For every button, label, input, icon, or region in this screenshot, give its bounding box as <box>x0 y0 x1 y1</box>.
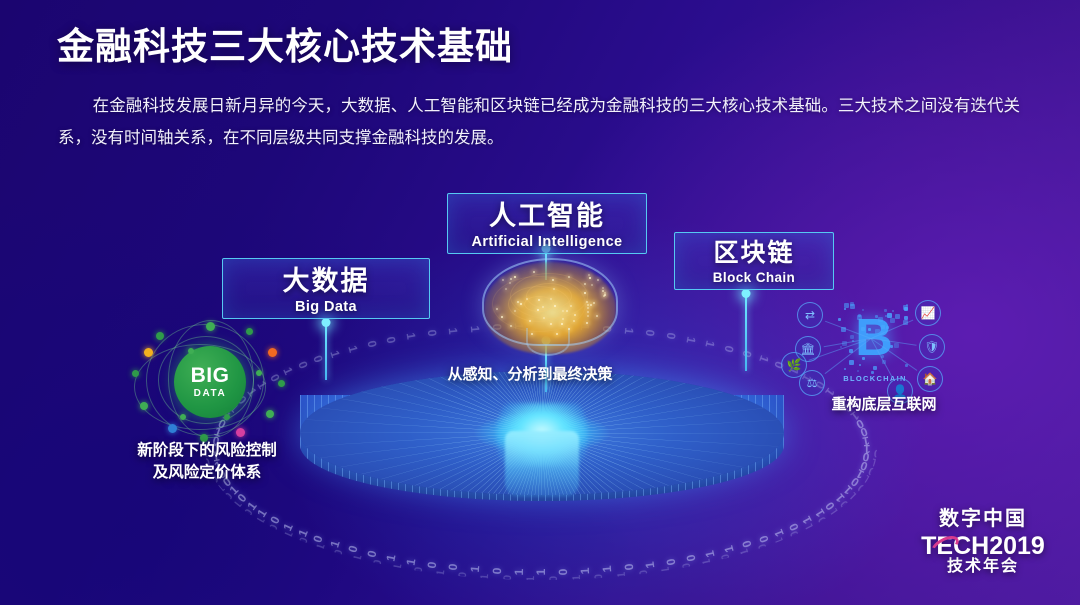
binary-digit: 0 <box>638 569 651 577</box>
label-box-big-data[interactable]: 大数据 Big Data <box>222 258 430 319</box>
big-data-node-icon <box>224 414 230 420</box>
brain-spark <box>562 318 564 320</box>
brain-spark <box>593 302 595 304</box>
binary-digit: 1 <box>328 348 343 359</box>
brain-spark <box>537 309 539 311</box>
brain-spark <box>587 307 589 309</box>
blockchain-pixel <box>894 343 899 348</box>
binary-digit: 0 <box>424 329 439 337</box>
label-big-data-en: Big Data <box>223 299 429 315</box>
logo-year-text: 2019 <box>989 532 1045 560</box>
brain-spark <box>590 304 592 306</box>
block-chain-icon-cluster: B BLOCKCHAIN ⇄🏛⚖🌿📈🛡🏠👤 <box>795 300 947 404</box>
connector-stem-big-data <box>325 322 327 380</box>
binary-digit: 0 <box>548 576 560 580</box>
blockchain-pixel <box>904 307 908 311</box>
binary-digit: 1 <box>571 575 583 580</box>
blockchain-pixel <box>844 308 846 310</box>
big-data-node-icon <box>246 328 253 335</box>
big-data-node-icon <box>156 332 164 340</box>
brain-spark <box>584 292 586 294</box>
binary-digit: 0 <box>446 563 461 571</box>
binary-digit: 0 <box>502 575 514 580</box>
binary-digit: 0 <box>311 354 326 365</box>
big-data-node-icon <box>140 402 148 410</box>
brain-spark <box>587 315 589 317</box>
brain-spark <box>573 320 575 322</box>
big-data-node-icon <box>206 322 215 331</box>
brain-gyrus-line <box>492 276 586 332</box>
binary-digit: 1 <box>479 574 491 580</box>
binary-digit: 1 <box>525 576 537 580</box>
brain-spark <box>550 298 552 300</box>
binary-digit: 1 <box>683 335 698 344</box>
big-data-node-icon <box>180 414 186 420</box>
logo-line-tech-year: TECH2019 <box>908 533 1058 559</box>
slide-canvas: 金融科技三大核心技术基础 在金融科技发展日新月异的今天，大数据、人工智能和区块链… <box>0 0 1080 605</box>
brain-spark <box>538 299 540 301</box>
logo-line-digital-china: 数字中国 <box>908 508 1058 530</box>
brain-stem <box>526 328 570 356</box>
caption-big-data-line2: 及风险定价体系 <box>92 462 322 484</box>
binary-digit: 1 <box>345 343 360 353</box>
caption-block-chain: 重构底层互联网 <box>788 394 980 416</box>
brain-spark <box>533 271 535 273</box>
blockchain-pixel <box>849 360 854 365</box>
caption-big-data-line1: 新阶段下的风险控制 <box>92 440 322 462</box>
big-data-node-icon <box>256 370 262 376</box>
big-data-node-icon <box>236 428 245 437</box>
blockchain-chart-icon: 📈 <box>915 300 941 326</box>
binary-digit: 0 <box>424 561 439 569</box>
brain-spark <box>589 277 591 279</box>
binary-digit: 1 <box>392 563 405 571</box>
binary-digit: 0 <box>371 558 384 567</box>
binary-digit: 0 <box>720 553 733 562</box>
binary-digit: 0 <box>332 548 345 557</box>
binary-digit: 0 <box>663 557 678 566</box>
blockchain-pixel <box>871 371 874 374</box>
blockchain-exchange-icon: ⇄ <box>797 302 823 328</box>
conference-logo: 数字中国 TECH2019 技术年会 <box>908 508 1058 594</box>
logo-line-annual-meeting: 技术年会 <box>908 558 1058 576</box>
binary-digit: 1 <box>739 548 752 557</box>
blockchain-pixel <box>850 335 854 339</box>
blockchain-leaf-icon: 🌿 <box>781 352 807 378</box>
blockchain-pixel <box>906 304 908 306</box>
binary-digit: 0 <box>663 332 678 341</box>
binary-digit: 1 <box>616 572 629 579</box>
brain-spark <box>529 320 531 322</box>
connector-stem-block-chain <box>745 293 747 371</box>
binary-digit: 0 <box>364 549 379 559</box>
brain-spark <box>531 333 533 335</box>
disc-center-pillar <box>505 431 579 497</box>
binary-digit: 0 <box>489 567 503 574</box>
brain-spark <box>526 298 528 300</box>
brain-spark <box>586 301 588 303</box>
blockchain-pixel <box>858 314 861 317</box>
label-block-chain-en: Block Chain <box>675 270 833 285</box>
blockchain-pixel <box>838 318 841 321</box>
binary-digit: 0 <box>364 339 379 349</box>
brain-spark <box>597 279 599 281</box>
big-data-node-icon <box>132 370 139 377</box>
big-data-node-icon <box>144 348 153 357</box>
binary-digit: 1 <box>700 558 713 567</box>
blockchain-pixel <box>892 310 894 312</box>
binary-digit: 1 <box>534 569 548 576</box>
brain-spark <box>514 310 516 312</box>
data-platform-disc <box>300 371 784 517</box>
brain-spark <box>584 283 586 285</box>
binary-digit: 0 <box>298 536 311 546</box>
brain-spark <box>510 278 512 280</box>
big-data-node-icon <box>278 380 285 387</box>
blockchain-pixel <box>904 316 908 320</box>
blockchain-pixel <box>875 315 878 318</box>
label-big-data-cn: 大数据 <box>223 266 429 296</box>
big-data-icon-cluster: BIG DATA <box>128 318 296 444</box>
big-data-node-icon <box>188 348 194 354</box>
binary-digit: 1 <box>404 332 419 341</box>
binary-digit: 0 <box>295 359 310 370</box>
blockchain-pixel <box>895 314 900 319</box>
binary-digit: 0 <box>680 562 693 570</box>
label-box-artificial-intelligence[interactable]: 人工智能 Artificial Intelligence <box>447 193 647 254</box>
binary-digit: 1 <box>600 566 614 574</box>
binary-digit: 1 <box>643 561 658 569</box>
blockchain-pixel <box>844 303 849 308</box>
blockchain-pixel <box>873 366 877 370</box>
label-box-block-chain[interactable]: 区块链 Block Chain <box>674 232 834 290</box>
blockchain-pixel <box>878 317 883 322</box>
blockchain-pixel <box>844 368 846 370</box>
brain-spark <box>566 310 568 312</box>
big-data-orbit-ring <box>168 320 254 438</box>
binary-digit: 1 <box>703 339 718 349</box>
binary-digit: 0 <box>413 566 426 574</box>
caption-artificial-intelligence: 从感知、分析到最终决策 <box>418 364 642 386</box>
blockchain-pixel <box>890 318 895 323</box>
brain-spark <box>561 323 563 325</box>
big-data-node-icon <box>168 424 177 433</box>
brain-spark <box>586 322 588 324</box>
binary-digit: 1 <box>434 569 447 577</box>
brain-spark <box>596 315 598 317</box>
binary-digit: 0 <box>643 329 658 337</box>
caption-big-data: 新阶段下的风险控制 及风险定价体系 <box>92 440 322 485</box>
blockchain-pixel <box>881 325 885 329</box>
binary-digit: 1 <box>756 354 771 365</box>
blockchain-shield-icon: 🛡 <box>919 334 945 360</box>
binary-digit: 0 <box>384 335 399 344</box>
binary-digit: 1 <box>659 566 672 574</box>
blockchain-pixel <box>884 309 887 312</box>
binary-digit: 0 <box>457 572 470 579</box>
binary-digit: 1 <box>384 554 399 563</box>
binary-digit: 1 <box>315 543 328 553</box>
blockchain-home-icon: 🏠 <box>917 366 943 392</box>
blockchain-pixel <box>857 370 859 372</box>
brain-spark <box>588 274 590 276</box>
binary-digit: 1 <box>446 326 461 334</box>
big-data-node-icon <box>266 410 274 418</box>
blockchain-pixel <box>866 333 868 335</box>
brain-spark <box>553 288 555 290</box>
binary-digit: 1 <box>467 566 481 574</box>
binary-digit: 0 <box>556 568 570 575</box>
binary-digit: 0 <box>622 563 637 571</box>
label-ai-cn: 人工智能 <box>448 201 646 231</box>
blockchain-pixel <box>887 313 892 318</box>
brain-spark <box>505 288 507 290</box>
binary-digit: 1 <box>351 554 364 563</box>
binary-digit: 0 <box>593 574 605 580</box>
binary-digit: 1 <box>404 557 419 566</box>
label-ai-en: Artificial Intelligence <box>448 234 646 250</box>
brain-illustration <box>478 256 622 360</box>
binary-digit: 0 <box>721 343 736 353</box>
label-block-chain-cn: 区块链 <box>675 239 833 267</box>
binary-digit: 1 <box>622 326 637 334</box>
big-data-node-icon <box>268 348 277 357</box>
binary-digit: 1 <box>578 567 592 574</box>
